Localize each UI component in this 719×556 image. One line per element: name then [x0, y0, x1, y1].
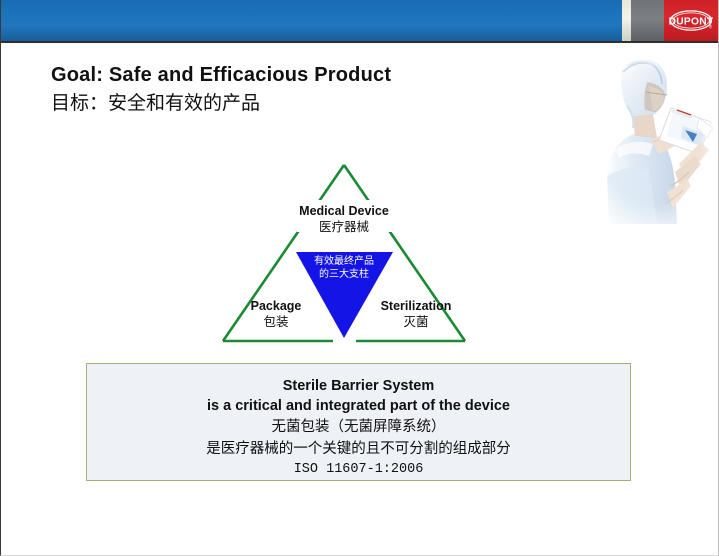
slide-canvas: DUPONT ® Goal: Safe and Efficacious Prod… — [0, 0, 719, 556]
header-cream-stripe — [622, 0, 631, 41]
page-title: Goal: Safe and Efficacious Product 目标：安全… — [51, 62, 571, 117]
dupont-logo-icon: DUPONT ® — [669, 9, 715, 32]
callout-line-2: is a critical and integrated part of the… — [87, 396, 630, 416]
header-blue-stripe — [1, 0, 622, 41]
vertex-medical-device-chinese: 医疗器械 — [269, 219, 419, 235]
vertex-sterilization-english: Sterilization — [356, 299, 476, 314]
vertex-label-medical-device: Medical Device 医疗器械 — [269, 204, 419, 235]
sterile-barrier-callout: Sterile Barrier System is a critical and… — [86, 363, 631, 481]
vertex-package-english: Package — [221, 299, 331, 314]
clinician-photo — [587, 52, 715, 224]
core-triangle-label: 有效最终产品 的三大支柱 — [294, 255, 394, 281]
vertex-sterilization-chinese: 灭菌 — [356, 314, 476, 330]
core-label-line2: 的三大支柱 — [294, 268, 394, 281]
callout-line-3: 无菌包装（无菌屏障系统） — [87, 416, 630, 438]
page-title-english: Goal: Safe and Efficacious Product — [51, 62, 571, 88]
header-band: DUPONT ® — [1, 0, 719, 42]
page-title-chinese: 目标：安全和有效的产品 — [51, 90, 571, 117]
header-gray-stripe — [631, 0, 664, 41]
vertex-package-chinese: 包装 — [221, 314, 331, 330]
header-underline — [1, 41, 719, 43]
vertex-label-sterilization: Sterilization 灭菌 — [356, 299, 476, 330]
svg-text:DUPONT: DUPONT — [669, 16, 714, 27]
core-label-line1: 有效最终产品 — [294, 255, 394, 268]
vertex-medical-device-english: Medical Device — [269, 204, 419, 219]
callout-line-4: 是医疗器械的一个关键的且不可分割的组成部分 — [87, 438, 630, 460]
callout-standard-reference: ISO 11607-1:2006 — [87, 460, 630, 480]
vertex-label-package: Package 包装 — [221, 299, 331, 330]
callout-line-1: Sterile Barrier System — [87, 376, 630, 396]
